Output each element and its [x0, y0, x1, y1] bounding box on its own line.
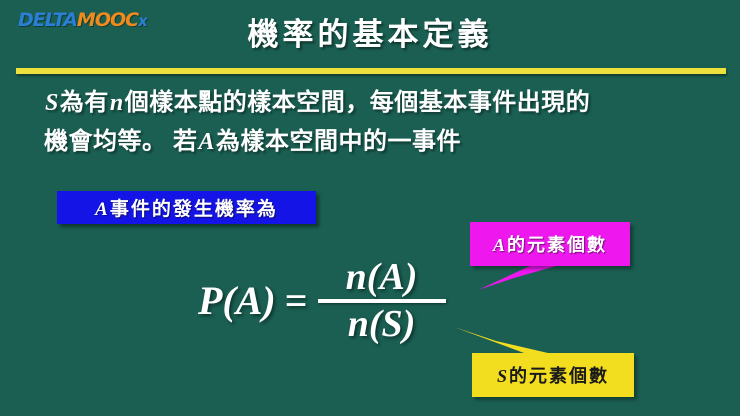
variable-s: S	[44, 90, 60, 116]
body-line-1-seg-b: 個樣本點的樣本空間，每個基本事件出現的	[125, 90, 591, 116]
title-divider-rule	[16, 68, 726, 74]
callout-numerator-variable-a: A	[493, 235, 507, 255]
slide-title: 機率的基本定義	[0, 16, 740, 55]
formula-equals-sign: =	[285, 281, 318, 321]
body-line-2-seg-a: 機會均等。 若	[44, 129, 198, 155]
formula-fraction: n(A) n(S)	[318, 258, 446, 344]
callout-denominator-rest: 的元素個數	[509, 366, 609, 386]
blue-label-box: A事件的發生機率為	[57, 191, 316, 224]
body-paragraph: S為有n個樣本點的樣本空間，每個基本事件出現的 機會均等。 若A為樣本空間中的一…	[44, 84, 714, 162]
formula-numerator: n(A)	[340, 258, 424, 297]
probability-formula: P(A) = n(A) n(S)	[198, 258, 446, 344]
callout-denominator-bubble: S的元素個數	[472, 353, 634, 397]
formula-lhs: P(A)	[198, 281, 285, 321]
body-line-2-seg-b: 為樣本空間中的一事件	[216, 129, 461, 155]
callout-numerator-bubble: A的元素個數	[470, 222, 630, 266]
callout-denominator-text: S的元素個數	[497, 362, 609, 388]
callout-numerator-text: A的元素個數	[493, 231, 607, 257]
blue-label-rest: 事件的發生機率為	[110, 199, 278, 220]
formula-denominator: n(S)	[342, 305, 422, 344]
blue-label-text: A事件的發生機率為	[95, 194, 278, 221]
body-line-2: 機會均等。 若A為樣本空間中的一事件	[44, 123, 714, 162]
variable-a: A	[198, 129, 217, 155]
callout-numerator: A的元素個數	[470, 222, 630, 302]
callout-denominator-variable-s: S	[497, 366, 509, 386]
callout-numerator-rest: 的元素個數	[507, 235, 607, 255]
body-line-1-seg-a: 為有	[60, 90, 109, 116]
body-line-1: S為有n個樣本點的樣本空間，每個基本事件出現的	[44, 84, 714, 123]
callout-denominator: S的元素個數	[452, 325, 634, 397]
blue-label-variable-a: A	[95, 199, 110, 220]
slide-canvas: DELTAMOOCx 機率的基本定義 S為有n個樣本點的樣本空間，每個基本事件出…	[0, 0, 740, 416]
variable-n: n	[109, 90, 125, 116]
